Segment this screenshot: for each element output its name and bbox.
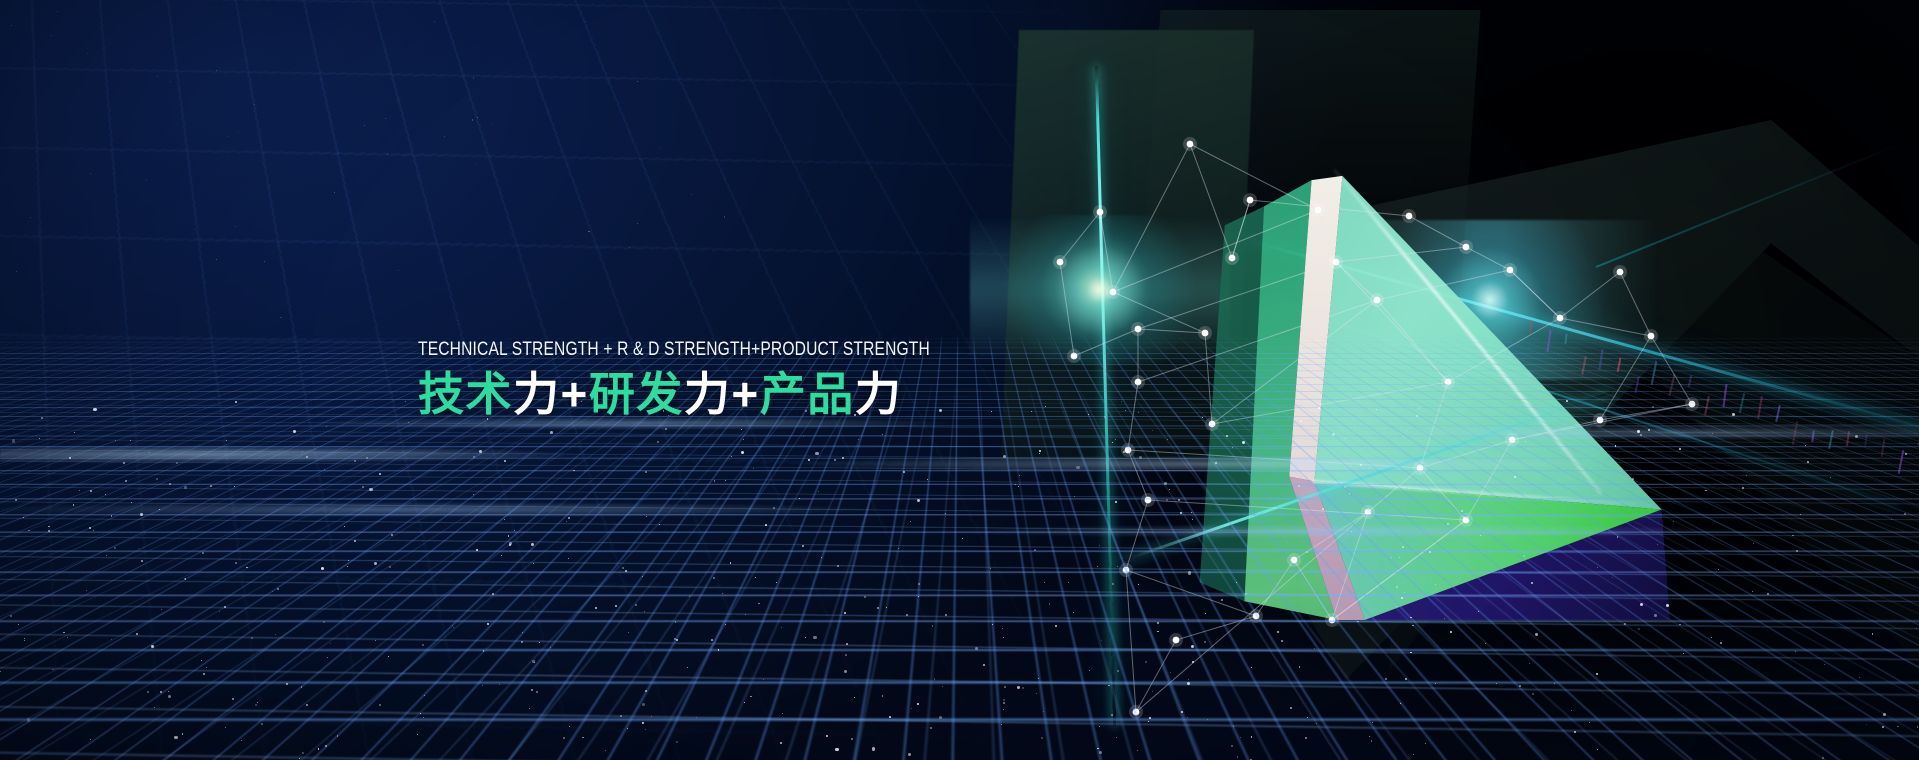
wave-crest-glow-lower xyxy=(0,452,1919,572)
network-edge xyxy=(1176,616,1256,640)
network-node xyxy=(1133,709,1140,716)
headline-block: TECHNICAL STRENGTH + R & D STRENGTH+PROD… xyxy=(418,339,1058,421)
network-node xyxy=(1329,617,1336,624)
network-node xyxy=(1173,637,1180,644)
headline-segment: 产品 xyxy=(760,368,855,420)
headline-segment: 力 xyxy=(684,368,732,420)
network-edge xyxy=(1126,570,1136,712)
page-title: 技术力+研发力+产品力 xyxy=(418,369,1058,421)
headline-segment: + xyxy=(561,368,589,420)
network-node xyxy=(1253,613,1260,620)
network-edge xyxy=(1126,570,1256,616)
network-node-halo xyxy=(1249,609,1263,623)
headline-segment: 研发 xyxy=(589,368,684,420)
eyebrow-tagline: TECHNICAL STRENGTH + R & D STRENGTH+PROD… xyxy=(418,339,930,360)
network-node-halo xyxy=(1325,613,1339,627)
headline-segment: 力 xyxy=(855,368,903,420)
network-edge xyxy=(1136,640,1176,712)
network-node-halo xyxy=(1129,705,1143,719)
headline-segment: 力 xyxy=(513,368,561,420)
headline-segment: 技术 xyxy=(418,368,513,420)
hero-banner: TECHNICAL STRENGTH + R & D STRENGTH+PROD… xyxy=(0,0,1919,760)
network-node-halo xyxy=(1169,633,1183,647)
headline-segment: + xyxy=(731,368,759,420)
